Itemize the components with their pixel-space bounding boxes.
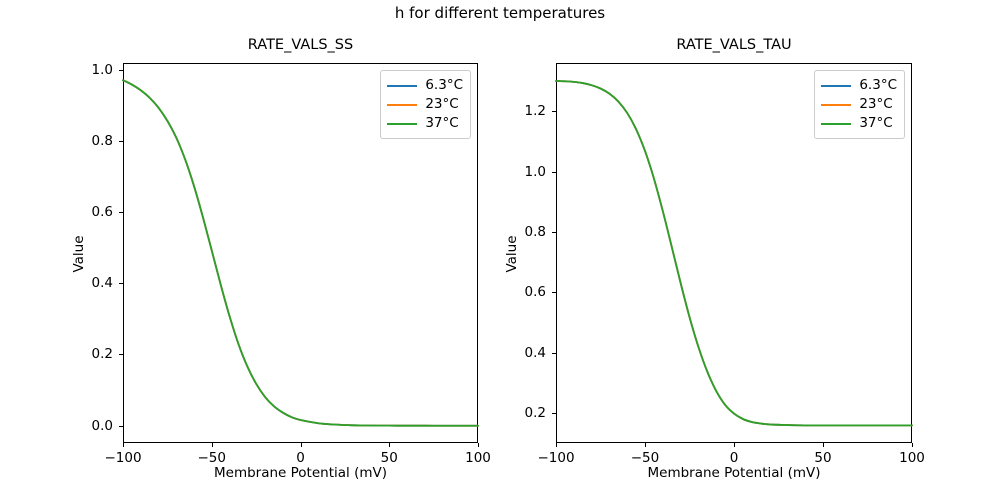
- legend-item-label: 37°C: [859, 117, 892, 131]
- y-tick: [552, 292, 556, 293]
- x-tick: [823, 443, 824, 447]
- legend-item-label: 6.3°C: [425, 79, 463, 93]
- x-tick-label: −100: [537, 450, 574, 466]
- x-tick-label: −50: [198, 450, 227, 466]
- x-tick-label: 0: [730, 450, 739, 466]
- x-tick: [478, 443, 479, 447]
- y-tick-label: 0.8: [492, 224, 546, 240]
- x-tick-label: −50: [631, 450, 660, 466]
- y-tick-label: 1.0: [492, 164, 546, 180]
- x-tick: [645, 443, 646, 447]
- y-tick: [552, 172, 556, 173]
- y-tick-label: 0.4: [59, 275, 113, 291]
- x-tick: [556, 443, 557, 447]
- figure-suptitle: h for different temperatures: [0, 4, 1000, 22]
- y-tick: [119, 354, 123, 355]
- legend-item[interactable]: 23°C: [387, 95, 463, 114]
- x-axis-label-left: Membrane Potential (mV): [123, 465, 478, 481]
- y-tick-label: 1.0: [59, 62, 113, 78]
- x-tick-label: 50: [381, 450, 398, 466]
- x-tick-label: −100: [104, 450, 141, 466]
- legend-item[interactable]: 37°C: [387, 114, 463, 133]
- legend-item[interactable]: 6.3°C: [387, 76, 463, 95]
- y-tick-label: 1.2: [492, 103, 546, 119]
- x-tick: [212, 443, 213, 447]
- legend-item[interactable]: 23°C: [821, 95, 897, 114]
- legend[interactable]: 6.3°C23°C37°C: [814, 70, 905, 139]
- y-tick-label: 0.2: [59, 346, 113, 362]
- y-tick-label: 0.6: [59, 204, 113, 220]
- legend-item[interactable]: 6.3°C: [821, 76, 897, 95]
- legend-line-swatch-icon: [387, 85, 417, 87]
- x-tick-label: 100: [899, 450, 925, 466]
- x-tick-label: 50: [814, 450, 831, 466]
- legend-item-label: 23°C: [859, 98, 892, 112]
- axes-title-right: RATE_VALS_TAU: [556, 37, 912, 53]
- x-tick-label: 100: [465, 450, 491, 466]
- y-tick: [552, 353, 556, 354]
- y-tick-label: 0.0: [59, 418, 113, 434]
- legend-item-label: 37°C: [425, 117, 458, 131]
- y-tick-label: 0.6: [492, 284, 546, 300]
- x-tick: [389, 443, 390, 447]
- legend-item[interactable]: 37°C: [821, 114, 897, 133]
- y-tick-label: 0.2: [492, 405, 546, 421]
- legend-line-swatch-icon: [821, 123, 851, 125]
- axes-rate-vals-ss: RATE_VALS_SS Membrane Potential (mV) Val…: [123, 63, 478, 443]
- y-tick: [119, 283, 123, 284]
- legend-line-swatch-icon: [821, 104, 851, 106]
- legend-line-swatch-icon: [387, 123, 417, 125]
- axes-rate-vals-tau: RATE_VALS_TAU Membrane Potential (mV) Va…: [556, 63, 912, 443]
- y-tick: [119, 141, 123, 142]
- y-tick-label: 0.4: [492, 345, 546, 361]
- y-tick: [119, 70, 123, 71]
- x-tick-label: 0: [296, 450, 305, 466]
- legend-line-swatch-icon: [387, 104, 417, 106]
- y-tick: [552, 413, 556, 414]
- y-tick-label: 0.8: [59, 133, 113, 149]
- x-tick: [734, 443, 735, 447]
- x-tick: [301, 443, 302, 447]
- x-tick: [123, 443, 124, 447]
- legend-item-label: 23°C: [425, 98, 458, 112]
- matplotlib-figure: h for different temperatures RATE_VALS_S…: [0, 0, 1000, 500]
- y-tick: [119, 212, 123, 213]
- y-tick: [552, 232, 556, 233]
- axes-title-left: RATE_VALS_SS: [123, 37, 478, 53]
- legend[interactable]: 6.3°C23°C37°C: [380, 70, 471, 139]
- legend-item-label: 6.3°C: [859, 79, 897, 93]
- y-tick: [552, 111, 556, 112]
- y-tick: [119, 426, 123, 427]
- x-tick: [912, 443, 913, 447]
- x-axis-label-right: Membrane Potential (mV): [556, 465, 912, 481]
- legend-line-swatch-icon: [821, 85, 851, 87]
